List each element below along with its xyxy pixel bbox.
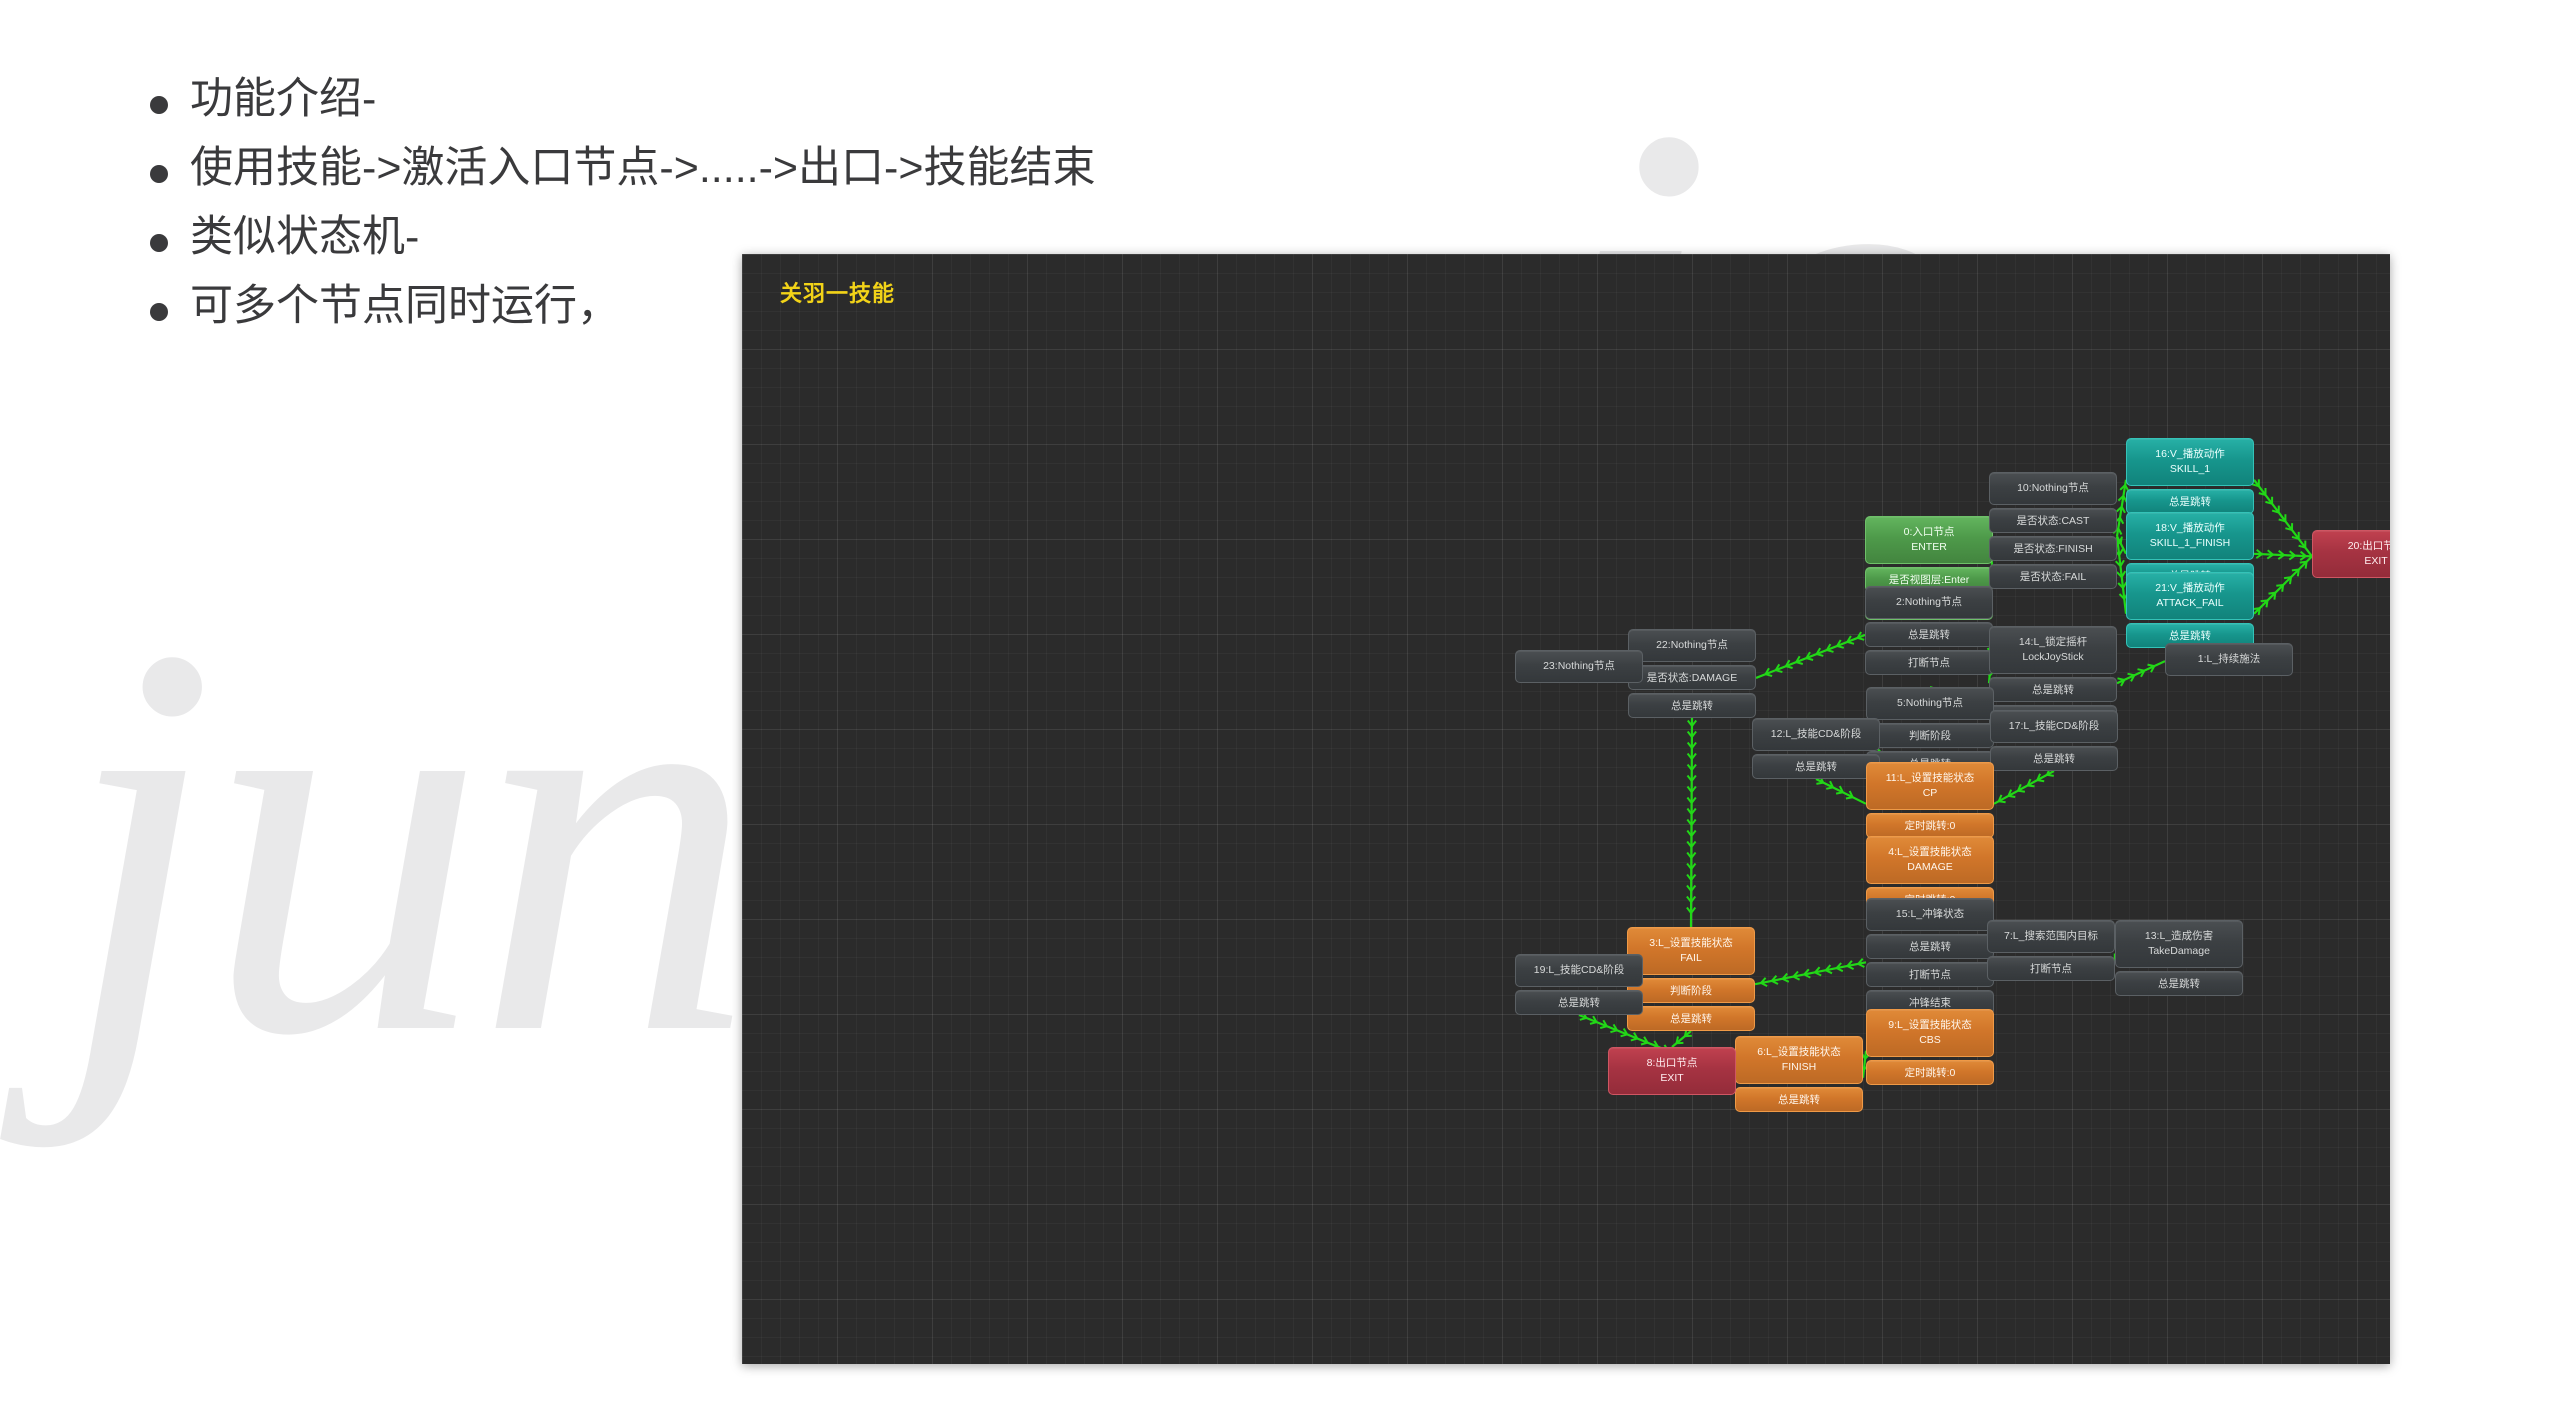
node-title: 1:L_持续施法 bbox=[2198, 653, 2260, 665]
node-header[interactable]: 4:L_设置技能状态DAMAGE bbox=[1866, 836, 1994, 884]
node-subtitle: FAIL bbox=[1631, 951, 1751, 966]
graph-node-9[interactable]: 9:L_设置技能状态CBS定时跳转:0 bbox=[1866, 1009, 1994, 1085]
node-title: 23:Nothing节点 bbox=[1543, 660, 1615, 672]
node-port[interactable]: 打断节点 bbox=[1866, 962, 1994, 987]
node-subtitle: EXIT bbox=[1612, 1071, 1732, 1086]
node-title: 8:出口节点 bbox=[1647, 1057, 1698, 1069]
node-header[interactable]: 11:L_设置技能状态CP bbox=[1866, 762, 1994, 810]
node-header[interactable]: 22:Nothing节点 bbox=[1628, 629, 1756, 662]
node-subtitle: FINISH bbox=[1739, 1060, 1859, 1075]
graph-edge bbox=[1755, 959, 1866, 986]
node-header[interactable]: 17:L_技能CD&阶段 bbox=[1990, 710, 2118, 743]
node-header[interactable]: 21:V_播放动作ATTACK_FAIL bbox=[2126, 572, 2254, 620]
node-title: 5:Nothing节点 bbox=[1897, 697, 1963, 709]
bullet-text: 功能介绍- bbox=[190, 78, 376, 121]
node-port[interactable]: 定时跳转:0 bbox=[1866, 1060, 1994, 1085]
graph-node-2[interactable]: 2:Nothing节点总是跳转打断节点 bbox=[1865, 586, 1993, 675]
node-title: 6:L_设置技能状态 bbox=[1757, 1046, 1840, 1058]
node-title: 10:Nothing节点 bbox=[2017, 482, 2089, 494]
node-header[interactable]: 16:V_播放动作SKILL_1 bbox=[2126, 438, 2254, 486]
node-title: 14:L_锁定摇杆 bbox=[2019, 636, 2087, 648]
graph-node-16[interactable]: 16:V_播放动作SKILL_1总是跳转 bbox=[2126, 438, 2254, 514]
node-subtitle: ENTER bbox=[1869, 540, 1989, 555]
node-title: 18:V_播放动作 bbox=[2155, 522, 2224, 534]
node-header[interactable]: 18:V_播放动作SKILL_1_FINISH bbox=[2126, 512, 2254, 560]
graph-edge bbox=[1994, 769, 2054, 804]
node-port[interactable]: 判断阶段 bbox=[1627, 978, 1755, 1003]
graph-node-21[interactable]: 21:V_播放动作ATTACK_FAIL总是跳转 bbox=[2126, 572, 2254, 648]
node-title: 9:L_设置技能状态 bbox=[1888, 1019, 1971, 1031]
node-port[interactable]: 总是跳转 bbox=[1735, 1087, 1863, 1112]
graph-title: 关羽一技能 bbox=[780, 276, 895, 308]
graph-node-11[interactable]: 11:L_设置技能状态CP定时跳转:0 bbox=[1866, 762, 1994, 838]
node-header[interactable]: 19:L_技能CD&阶段 bbox=[1515, 954, 1643, 987]
node-subtitle: DAMAGE bbox=[1870, 860, 1990, 875]
node-title: 3:L_设置技能状态 bbox=[1649, 937, 1732, 949]
graph-node-15[interactable]: 15:L_冲锋状态总是跳转打断节点冲锋结束 bbox=[1866, 898, 1994, 1015]
graph-node-3[interactable]: 3:L_设置技能状态FAIL判断阶段总是跳转 bbox=[1627, 927, 1755, 1031]
node-title: 22:Nothing节点 bbox=[1656, 639, 1728, 651]
bullet-text: 使用技能->激活入口节点->.....->出口->技能结束 bbox=[190, 147, 1095, 190]
node-title: 11:L_设置技能状态 bbox=[1886, 772, 1975, 784]
node-header[interactable]: 23:Nothing节点 bbox=[1515, 650, 1643, 683]
graph-node-17[interactable]: 17:L_技能CD&阶段总是跳转 bbox=[1990, 710, 2118, 771]
graph-edge bbox=[1756, 632, 1865, 678]
node-port[interactable]: 总是跳转 bbox=[1989, 677, 2117, 702]
node-header[interactable]: 12:L_技能CD&阶段 bbox=[1752, 718, 1880, 751]
graph-edge bbox=[1816, 776, 1866, 804]
bullet-item: 类似状态机- bbox=[150, 216, 1550, 259]
bullet-item: 使用技能->激活入口节点->.....->出口->技能结束 bbox=[150, 147, 1550, 190]
graph-edge bbox=[2117, 661, 2165, 686]
node-port[interactable]: 总是跳转 bbox=[1865, 622, 1993, 647]
graph-edge bbox=[2253, 556, 2312, 615]
graph-node-13[interactable]: 13:L_造成伤害TakeDamage总是跳转 bbox=[2115, 920, 2243, 996]
node-port[interactable]: 是否状态:CAST bbox=[1989, 508, 2117, 533]
node-header[interactable]: 1:L_持续施法 bbox=[2165, 643, 2293, 676]
bullet-dot-icon bbox=[150, 96, 168, 114]
node-title: 4:L_设置技能状态 bbox=[1888, 846, 1971, 858]
node-header[interactable]: 8:出口节点EXIT bbox=[1608, 1047, 1736, 1095]
node-header[interactable]: 0:入口节点ENTER bbox=[1865, 516, 1993, 564]
node-subtitle: CBS bbox=[1870, 1033, 1990, 1048]
graph-edge bbox=[2254, 550, 2312, 560]
bullet-text: 可多个节点同时运行， bbox=[190, 285, 620, 328]
graph-node-8[interactable]: 8:出口节点EXIT bbox=[1608, 1047, 1736, 1095]
node-graph-editor[interactable]: 关羽一技能 0:入口节点ENTER是否视图层:Enter是否逻辑层:Enter1… bbox=[742, 254, 2390, 1364]
node-title: 21:V_播放动作 bbox=[2155, 582, 2224, 594]
node-title: 0:入口节点 bbox=[1904, 526, 1955, 538]
graph-node-19[interactable]: 19:L_技能CD&阶段总是跳转 bbox=[1515, 954, 1643, 1015]
node-title: 7:L_搜索范围内目标 bbox=[2004, 930, 2098, 942]
node-title: 15:L_冲锋状态 bbox=[1896, 908, 1964, 920]
node-header[interactable]: 2:Nothing节点 bbox=[1865, 586, 1993, 619]
node-port[interactable]: 是否状态:DAMAGE bbox=[1628, 665, 1756, 690]
node-subtitle: EXIT bbox=[2316, 554, 2390, 569]
graph-node-12[interactable]: 12:L_技能CD&阶段总是跳转 bbox=[1752, 718, 1880, 779]
node-subtitle: LockJoyStick bbox=[1993, 650, 2113, 665]
node-subtitle: ATTACK_FAIL bbox=[2130, 596, 2250, 611]
node-port[interactable]: 总是跳转 bbox=[2126, 489, 2254, 514]
node-header[interactable]: 13:L_造成伤害TakeDamage bbox=[2115, 920, 2243, 968]
node-port[interactable]: 总是跳转 bbox=[1752, 754, 1880, 779]
bullet-dot-icon bbox=[150, 165, 168, 183]
node-subtitle: CP bbox=[1870, 786, 1990, 801]
node-port[interactable]: 总是跳转 bbox=[1990, 746, 2118, 771]
node-title: 13:L_造成伤害 bbox=[2145, 930, 2213, 942]
graph-edge bbox=[1687, 718, 1696, 927]
node-port[interactable]: 总是跳转 bbox=[1515, 990, 1643, 1015]
node-port[interactable]: 是否状态:FINISH bbox=[1989, 536, 2117, 561]
bullet-dot-icon bbox=[150, 234, 168, 252]
node-port[interactable]: 判断阶段 bbox=[1866, 723, 1994, 748]
node-header[interactable]: 5:Nothing节点 bbox=[1866, 687, 1994, 720]
node-header[interactable]: 14:L_锁定摇杆LockJoyStick bbox=[1989, 626, 2117, 674]
graph-edge bbox=[2252, 479, 2312, 556]
bullet-item: 功能介绍- bbox=[150, 78, 1550, 121]
bullet-dot-icon bbox=[150, 303, 168, 321]
node-header[interactable]: 6:L_设置技能状态FINISH bbox=[1735, 1036, 1863, 1084]
node-subtitle: TakeDamage bbox=[2119, 944, 2239, 959]
graph-node-7[interactable]: 7:L_搜索范围内目标打断节点 bbox=[1987, 920, 2115, 981]
graph-edge bbox=[1672, 1029, 1692, 1047]
node-title: 17:L_技能CD&阶段 bbox=[2009, 720, 2099, 732]
graph-node-1[interactable]: 1:L_持续施法 bbox=[2165, 643, 2293, 676]
graph-node-6[interactable]: 6:L_设置技能状态FINISH总是跳转 bbox=[1735, 1036, 1863, 1112]
node-header[interactable]: 7:L_搜索范围内目标 bbox=[1987, 920, 2115, 953]
node-title: 19:L_技能CD&阶段 bbox=[1534, 964, 1624, 976]
graph-node-22[interactable]: 22:Nothing节点是否状态:DAMAGE总是跳转 bbox=[1628, 629, 1756, 718]
node-port[interactable]: 打断节点 bbox=[1987, 956, 2115, 981]
node-title: 20:出口节点 bbox=[2348, 540, 2390, 552]
node-header[interactable]: 20:出口节点EXIT bbox=[2312, 530, 2390, 578]
node-port[interactable]: 总是跳转 bbox=[1627, 1006, 1755, 1031]
graph-node-23[interactable]: 23:Nothing节点 bbox=[1515, 650, 1643, 683]
node-port[interactable]: 定时跳转:0 bbox=[1866, 813, 1994, 838]
node-header[interactable]: 9:L_设置技能状态CBS bbox=[1866, 1009, 1994, 1057]
edge-layer bbox=[742, 254, 2390, 1364]
node-title: 16:V_播放动作 bbox=[2155, 448, 2224, 460]
node-port[interactable]: 是否状态:FAIL bbox=[1989, 564, 2117, 589]
graph-node-10[interactable]: 10:Nothing节点是否状态:CAST是否状态:FINISH是否状态:FAI… bbox=[1989, 472, 2117, 589]
bullet-text: 类似状态机- bbox=[190, 216, 419, 259]
node-port[interactable]: 总是跳转 bbox=[1866, 934, 1994, 959]
graph-node-20[interactable]: 20:出口节点EXIT bbox=[2312, 530, 2390, 578]
node-subtitle: SKILL_1_FINISH bbox=[2130, 536, 2250, 551]
node-port[interactable]: 总是跳转 bbox=[1628, 693, 1756, 718]
node-subtitle: SKILL_1 bbox=[2130, 462, 2250, 477]
node-port[interactable]: 打断节点 bbox=[1865, 650, 1993, 675]
node-port[interactable]: 总是跳转 bbox=[2115, 971, 2243, 996]
node-title: 2:Nothing节点 bbox=[1896, 596, 1962, 608]
node-title: 12:L_技能CD&阶段 bbox=[1771, 728, 1861, 740]
node-header[interactable]: 3:L_设置技能状态FAIL bbox=[1627, 927, 1755, 975]
node-header[interactable]: 15:L_冲锋状态 bbox=[1866, 898, 1994, 931]
node-header[interactable]: 10:Nothing节点 bbox=[1989, 472, 2117, 505]
